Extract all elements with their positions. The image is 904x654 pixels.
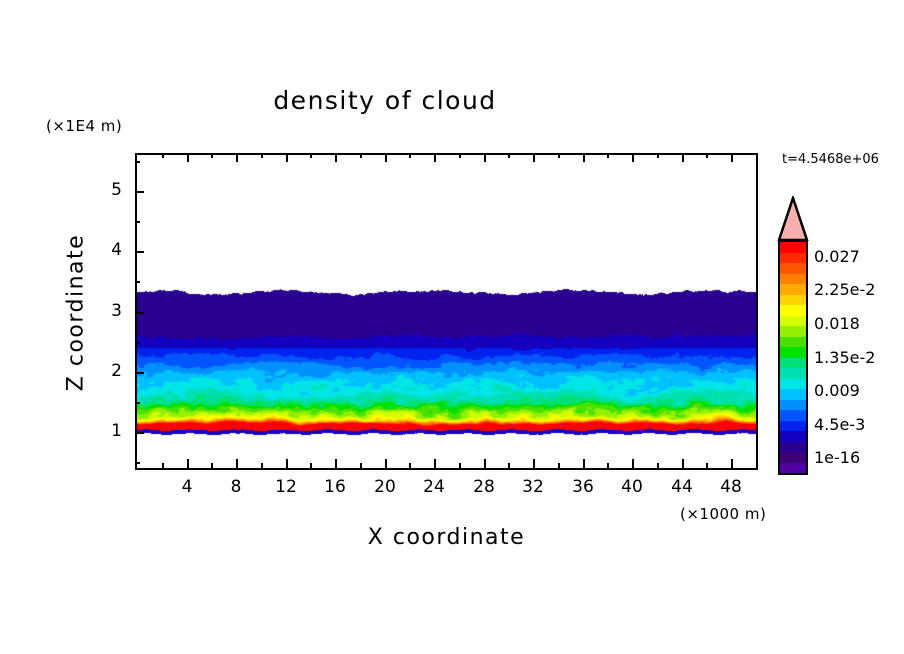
x-tick-major-32 [533, 459, 535, 468]
contour-field [137, 155, 756, 468]
x-tick-top-minor-46 [706, 153, 708, 158]
x-tick-minor-2 [162, 463, 164, 468]
y-axis-unit-label: (×1E4 m) [46, 117, 122, 135]
x-tick-top-minor-6 [211, 153, 213, 158]
x-tick-label-48: 48 [711, 477, 751, 497]
x-tick-major-40 [632, 459, 634, 468]
x-tick-label-24: 24 [414, 477, 454, 497]
x-tick-major-4 [187, 459, 189, 468]
colorbar-label-4: 0.009 [814, 381, 860, 400]
y-tick-minor-2.5 [135, 342, 140, 344]
plot-area [135, 153, 758, 470]
x-tick-top-minor-18 [360, 153, 362, 158]
x-tick-major-20 [385, 459, 387, 468]
colorbar-label-2: 0.018 [814, 314, 860, 333]
y-tick-label-1: 1 [100, 421, 122, 441]
y-tick-minor-0.5 [135, 462, 140, 464]
x-tick-top-8 [236, 153, 238, 162]
x-tick-top-minor-34 [558, 153, 560, 158]
x-tick-top-32 [533, 153, 535, 162]
x-tick-label-4: 4 [167, 477, 207, 497]
time-annotation: t=4.5468e+06 [782, 152, 879, 167]
y-tick-major-1 [135, 432, 144, 434]
x-tick-minor-22 [409, 463, 411, 468]
colorbar-label-5: 4.5e-3 [814, 415, 865, 434]
page-title: density of cloud [0, 86, 770, 115]
x-tick-label-12: 12 [266, 477, 306, 497]
x-tick-major-8 [236, 459, 238, 468]
colorbar-band-19 [780, 442, 806, 453]
colorbar [776, 196, 810, 479]
x-tick-top-minor-10 [261, 153, 263, 158]
y-tick-label-3: 3 [100, 301, 122, 321]
x-tick-top-28 [484, 153, 486, 162]
x-tick-label-36: 36 [563, 477, 603, 497]
x-tick-major-44 [682, 459, 684, 468]
x-tick-minor-14 [310, 463, 312, 468]
x-tick-label-16: 16 [315, 477, 355, 497]
x-axis-unit-label: (×1000 m) [680, 505, 766, 523]
x-tick-label-40: 40 [612, 477, 652, 497]
x-tick-top-40 [632, 153, 634, 162]
x-tick-top-minor-42 [657, 153, 659, 158]
x-tick-minor-6 [211, 463, 213, 468]
y-tick-label-2: 2 [100, 361, 122, 381]
colorbar-band-4 [780, 284, 806, 295]
x-tick-top-48 [731, 153, 733, 162]
x-tick-top-12 [286, 153, 288, 162]
x-tick-top-minor-26 [459, 153, 461, 158]
x-tick-major-48 [731, 459, 733, 468]
x-tick-label-32: 32 [513, 477, 553, 497]
y-tick-label-5: 5 [100, 180, 122, 200]
y-tick-major-5 [135, 191, 144, 193]
x-tick-major-24 [434, 459, 436, 468]
colorbar-overflow-arrow-icon [776, 196, 810, 241]
colorbar-label-0: 0.027 [814, 247, 860, 266]
x-tick-minor-42 [657, 463, 659, 468]
x-tick-top-minor-14 [310, 153, 312, 158]
x-tick-top-20 [385, 153, 387, 162]
y-tick-label-4: 4 [100, 240, 122, 260]
x-tick-label-8: 8 [216, 477, 256, 497]
colorbar-band-11 [780, 358, 806, 369]
x-tick-top-4 [187, 153, 189, 162]
colorbar-band-5 [780, 295, 806, 306]
x-tick-major-12 [286, 459, 288, 468]
y-axis-title: Z coordinate [64, 223, 89, 403]
y-tick-major-3 [135, 312, 144, 314]
x-tick-top-minor-30 [508, 153, 510, 158]
x-tick-minor-34 [558, 463, 560, 468]
x-tick-minor-50 [756, 463, 758, 468]
x-tick-label-20: 20 [365, 477, 405, 497]
x-tick-minor-30 [508, 463, 510, 468]
colorbar-band-7 [780, 316, 806, 327]
figure-root: density of cloud (×1E4 m) (×1000 m) t=4.… [0, 0, 904, 654]
x-tick-minor-18 [360, 463, 362, 468]
colorbar-label-3: 1.35e-2 [814, 348, 875, 367]
colorbar-band-14 [780, 389, 806, 400]
colorbar-band-0 [780, 242, 806, 253]
x-tick-major-28 [484, 459, 486, 468]
x-tick-top-minor-50 [756, 153, 758, 158]
y-tick-minor-3.5 [135, 281, 140, 283]
x-tick-top-24 [434, 153, 436, 162]
colorbar-label-6: 1e-16 [814, 448, 860, 467]
colorbar-band-16 [780, 410, 806, 421]
x-tick-top-minor-2 [162, 153, 164, 158]
x-axis-title: X coordinate [135, 525, 758, 550]
colorbar-band-17 [780, 421, 806, 432]
colorbar-strip [778, 240, 808, 475]
x-tick-minor-46 [706, 463, 708, 468]
x-tick-top-36 [583, 153, 585, 162]
x-tick-top-minor-38 [607, 153, 609, 158]
x-tick-top-minor-22 [409, 153, 411, 158]
colorbar-band-21 [780, 463, 806, 474]
y-tick-minor-5.5 [135, 161, 140, 163]
colorbar-band-3 [780, 274, 806, 285]
colorbar-band-20 [780, 452, 806, 463]
colorbar-band-10 [780, 347, 806, 358]
colorbar-band-18 [780, 431, 806, 442]
colorbar-band-1 [780, 253, 806, 264]
colorbar-band-2 [780, 263, 806, 274]
colorbar-band-8 [780, 326, 806, 337]
y-tick-minor-4.5 [135, 221, 140, 223]
x-tick-label-44: 44 [662, 477, 702, 497]
colorbar-label-1: 2.25e-2 [814, 280, 875, 299]
colorbar-band-13 [780, 379, 806, 390]
x-tick-top-44 [682, 153, 684, 162]
y-tick-major-4 [135, 251, 144, 253]
colorbar-band-9 [780, 337, 806, 348]
x-tick-minor-26 [459, 463, 461, 468]
colorbar-band-15 [780, 400, 806, 411]
colorbar-band-6 [780, 305, 806, 316]
x-tick-label-28: 28 [464, 477, 504, 497]
x-tick-major-16 [335, 459, 337, 468]
x-tick-major-36 [583, 459, 585, 468]
x-tick-minor-38 [607, 463, 609, 468]
y-tick-major-2 [135, 372, 144, 374]
colorbar-band-12 [780, 368, 806, 379]
y-tick-minor-1.5 [135, 402, 140, 404]
x-tick-top-16 [335, 153, 337, 162]
x-tick-minor-10 [261, 463, 263, 468]
